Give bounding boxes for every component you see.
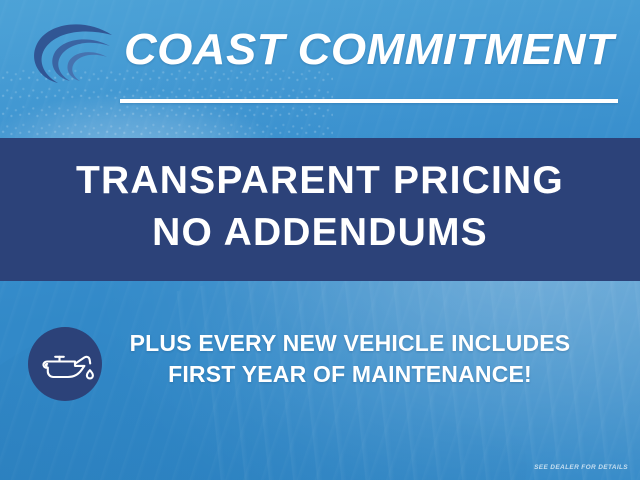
oil-can-icon	[28, 327, 102, 401]
header-divider	[120, 99, 618, 103]
disclaimer-text: SEE DEALER FOR DETAILS	[534, 464, 628, 471]
page-title: COAST COMMITMENT	[124, 20, 639, 80]
promo-line-2: FIRST YEAR OF MAINTENANCE!	[110, 359, 590, 390]
headline-band: TRANSPARENT PRICING NO ADDENDUMS	[0, 138, 640, 281]
coast-commitment-banner: COAST COMMITMENT TRANSPARENT PRICING NO …	[0, 0, 640, 480]
headline-line-2: NO ADDENDUMS	[0, 211, 640, 255]
oil-can-badge	[28, 327, 102, 401]
banner-header: COAST COMMITMENT	[0, 0, 640, 138]
headline-line-1: TRANSPARENT PRICING	[0, 159, 640, 203]
coast-wave-logo-icon	[24, 16, 120, 98]
promo-text: PLUS EVERY NEW VEHICLE INCLUDES FIRST YE…	[110, 328, 590, 390]
promo-line-1: PLUS EVERY NEW VEHICLE INCLUDES	[110, 328, 590, 359]
promo-row: PLUS EVERY NEW VEHICLE INCLUDES FIRST YE…	[0, 320, 640, 408]
